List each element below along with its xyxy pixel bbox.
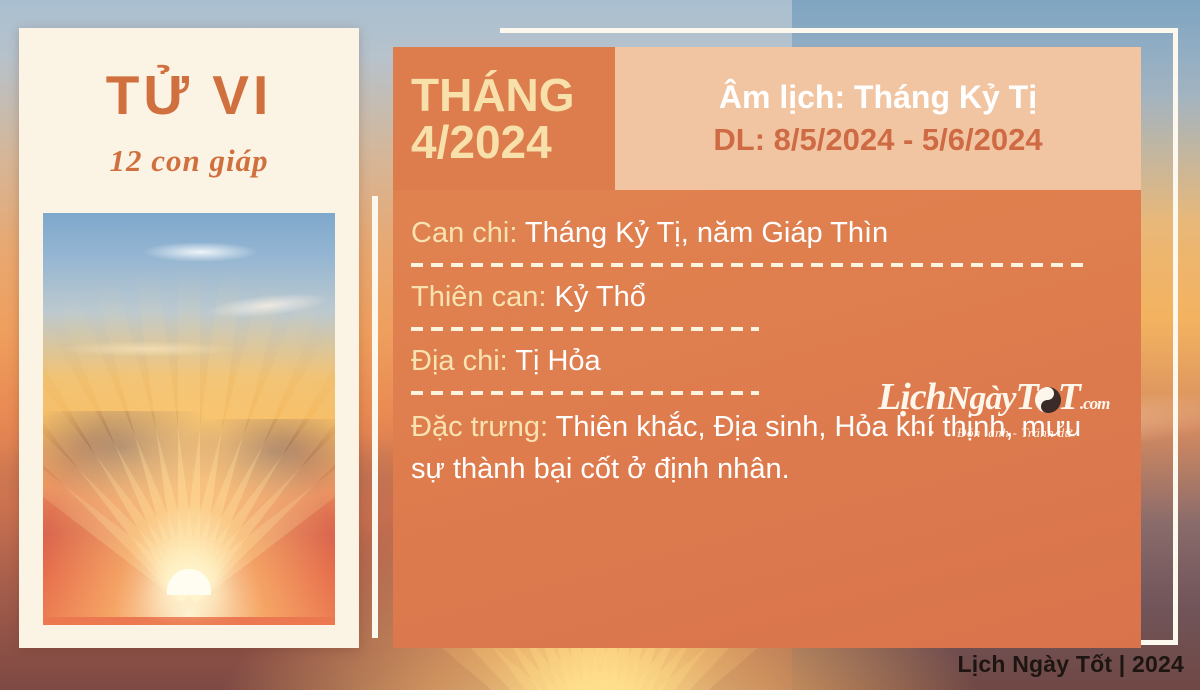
divider-dashed: [411, 391, 759, 395]
brand-watermark: LịchNgàyTT.com • • •Đón lành - Tránh dữ: [878, 378, 1110, 450]
detail-row-thien-can: Thiên can: Kỷ Thổ: [411, 279, 1115, 316]
brand-lich: Lịch: [878, 376, 946, 418]
detail-thien-can: Thiên can: Kỷ Thổ: [411, 279, 1115, 316]
detail-label: Thiên can:: [411, 281, 546, 313]
detail-value: Tị Hỏa: [508, 345, 601, 377]
left-title-card: TỬ VI 12 con giáp: [19, 28, 359, 648]
divider-dashed: [411, 327, 759, 331]
detail-value: Tháng Kỷ Tị, năm Giáp Thìn: [517, 217, 888, 249]
cloud-icon: [142, 242, 259, 263]
brand-dotcom: .com: [1080, 394, 1110, 413]
month-label: THÁNG: [411, 72, 615, 119]
brand-tagline: • • •Đón lành - Tránh dữ: [878, 425, 1110, 441]
month-block: THÁNG 4/2024: [393, 47, 615, 190]
sunrise-photo: [43, 213, 335, 625]
yin-yang-icon: [1035, 387, 1061, 413]
detail-label: Can chi:: [411, 217, 517, 249]
detail-row-can-chi: Can chi: Tháng Kỷ Tị, năm Giáp Thìn: [411, 215, 1115, 252]
detail-dia-chi: Địa chi: Tị Hỏa: [411, 343, 1115, 380]
detail-value: Kỷ Thổ: [546, 281, 645, 313]
feature-label: Đặc trưng:: [411, 411, 548, 443]
month-value: 4/2024: [411, 119, 615, 166]
footer-credit: Lịch Ngày Tốt | 2024: [958, 651, 1184, 678]
solar-date-range: DL: 8/5/2024 - 5/6/2024: [713, 122, 1042, 158]
brand-t2: T: [1058, 376, 1080, 418]
divider-dashed: [411, 263, 1085, 267]
detail-row-dia-chi: Địa chi: Tị Hỏa: [411, 343, 1115, 380]
page-title: TỬ VI: [19, 68, 359, 123]
brand-ngay: Ngày: [946, 380, 1016, 417]
detail-can-chi: Can chi: Tháng Kỷ Tị, năm Giáp Thìn: [411, 215, 1115, 252]
vertical-accent-line: [372, 196, 378, 638]
lunar-month-label: Âm lịch: Tháng Kỷ Tị: [719, 79, 1037, 116]
page-subtitle: 12 con giáp: [19, 143, 359, 179]
lunar-info-box: Âm lịch: Tháng Kỷ Tị DL: 8/5/2024 - 5/6/…: [615, 47, 1141, 190]
detail-label: Địa chi:: [411, 345, 508, 377]
brand-wordmark: LịchNgàyTT.com: [878, 378, 1110, 416]
main-info-panel: THÁNG 4/2024 Âm lịch: Tháng Kỷ Tị DL: 8/…: [393, 47, 1141, 648]
tagline-text: Đón lành - Tránh dữ: [957, 425, 1072, 440]
dots-icon: • • •: [916, 425, 951, 440]
